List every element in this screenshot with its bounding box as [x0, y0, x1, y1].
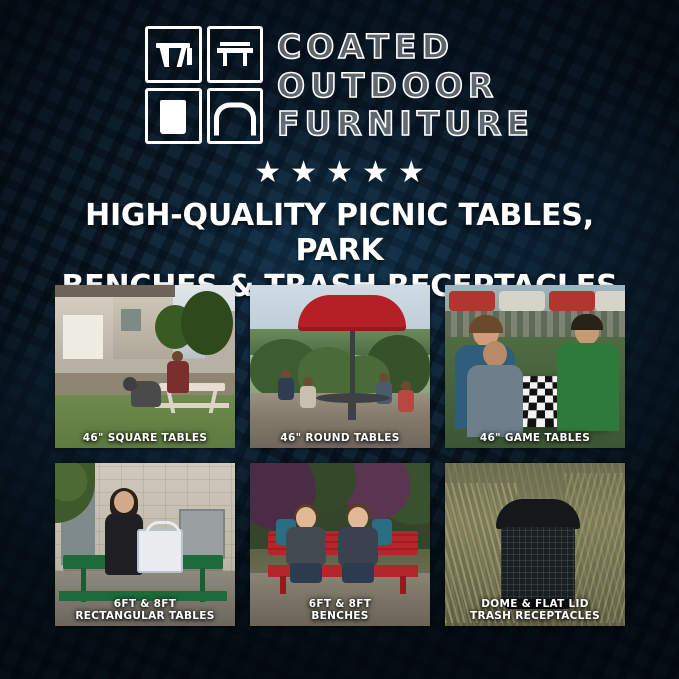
headline-line-1: HIGH-QUALITY PICNIC TABLES, PARK — [40, 198, 639, 269]
product-caption: 6FT & 8FT BENCHES — [250, 598, 430, 622]
product-caption: 6FT & 8FT RECTANGULAR TABLES — [55, 598, 235, 622]
star-icon: ★ — [362, 158, 389, 188]
photo-square-tables — [55, 285, 235, 448]
picnic-table-icon — [145, 26, 202, 83]
product-caption-line-2: BENCHES — [254, 610, 426, 622]
product-caption-line-1: DOME & FLAT LID — [449, 598, 621, 610]
product-caption: 46" GAME TABLES — [445, 432, 625, 444]
product-tile-round-tables[interactable]: 46" ROUND TABLES — [250, 285, 430, 448]
star-icon: ★ — [326, 158, 353, 188]
brand-wordmark: COATED OUTDOOR FURNITURE — [277, 27, 534, 144]
brand-name-line-3: FURNITURE — [277, 106, 534, 143]
star-icon: ★ — [254, 158, 281, 188]
advertisement-banner: COATED OUTDOOR FURNITURE ★ ★ ★ ★ ★ HIGH-… — [0, 0, 679, 679]
product-caption-line-1: 46" SQUARE TABLES — [83, 432, 207, 444]
arch-icon — [207, 88, 264, 145]
product-caption-line-1: 6FT & 8FT — [59, 598, 231, 610]
product-tile-benches[interactable]: 6FT & 8FT BENCHES — [250, 463, 430, 626]
photo-game-tables — [445, 285, 625, 448]
brand-name-line-1: COATED — [277, 29, 534, 66]
trash-receptacle-icon — [145, 88, 202, 145]
bench-icon — [207, 26, 264, 83]
product-tile-square-tables[interactable]: 46" SQUARE TABLES — [55, 285, 235, 448]
product-caption-line-1: 46" ROUND TABLES — [280, 432, 399, 444]
product-tile-rectangular-tables[interactable]: 6FT & 8FT RECTANGULAR TABLES — [55, 463, 235, 626]
star-rating: ★ ★ ★ ★ ★ — [0, 158, 679, 188]
ad-content: COATED OUTDOOR FURNITURE ★ ★ ★ ★ ★ HIGH-… — [0, 0, 679, 679]
product-caption: DOME & FLAT LID TRASH RECEPTACLES — [445, 598, 625, 622]
product-caption-line-1: 46" GAME TABLES — [480, 432, 590, 444]
product-caption: 46" SQUARE TABLES — [55, 432, 235, 444]
product-tile-game-tables[interactable]: 46" GAME TABLES — [445, 285, 625, 448]
product-caption: 46" ROUND TABLES — [250, 432, 430, 444]
star-icon: ★ — [398, 158, 425, 188]
product-caption-line-1: 6FT & 8FT — [254, 598, 426, 610]
product-caption-line-2: TRASH RECEPTACLES — [449, 610, 621, 622]
photo-round-tables — [250, 285, 430, 448]
brand-name-line-2: OUTDOOR — [277, 68, 534, 105]
product-grid: 46" SQUARE TABLES — [55, 285, 625, 626]
product-tile-trash-receptacles[interactable]: DOME & FLAT LID TRASH RECEPTACLES — [445, 463, 625, 626]
logo-mark — [145, 26, 263, 144]
star-icon: ★ — [290, 158, 317, 188]
brand-logo: COATED OUTDOOR FURNITURE — [0, 26, 679, 144]
product-caption-line-2: RECTANGULAR TABLES — [59, 610, 231, 622]
